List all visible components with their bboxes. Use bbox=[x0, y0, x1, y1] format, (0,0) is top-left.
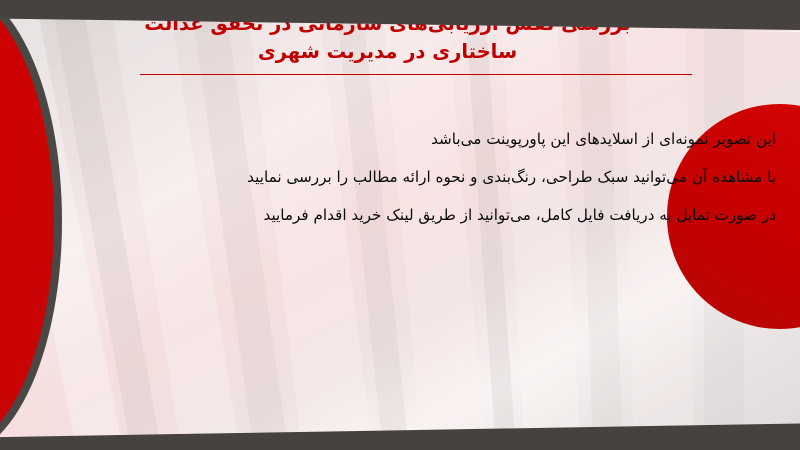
slide-body-line-3: در صورت تمایل به دریافت فایل کامل، می‌تو… bbox=[100, 196, 776, 234]
presentation-slide: بررسی نقش ارزیابی‌های سازمانی در تحقق عد… bbox=[0, 0, 800, 450]
title-underline bbox=[140, 74, 692, 75]
left-red-ellipse bbox=[0, 0, 62, 450]
slide-body-line-2: با مشاهده آن می‌توانید سبک طراحی، رنگ‌بن… bbox=[100, 158, 776, 196]
slide-body: این تصویر نمونه‌ای از اسلایدهای این پاور… bbox=[100, 120, 776, 234]
slide-body-line-1: این تصویر نمونه‌ای از اسلایدهای این پاور… bbox=[100, 120, 776, 158]
slide-title-line-2: ساختاری در مدیریت شهری bbox=[70, 38, 705, 66]
